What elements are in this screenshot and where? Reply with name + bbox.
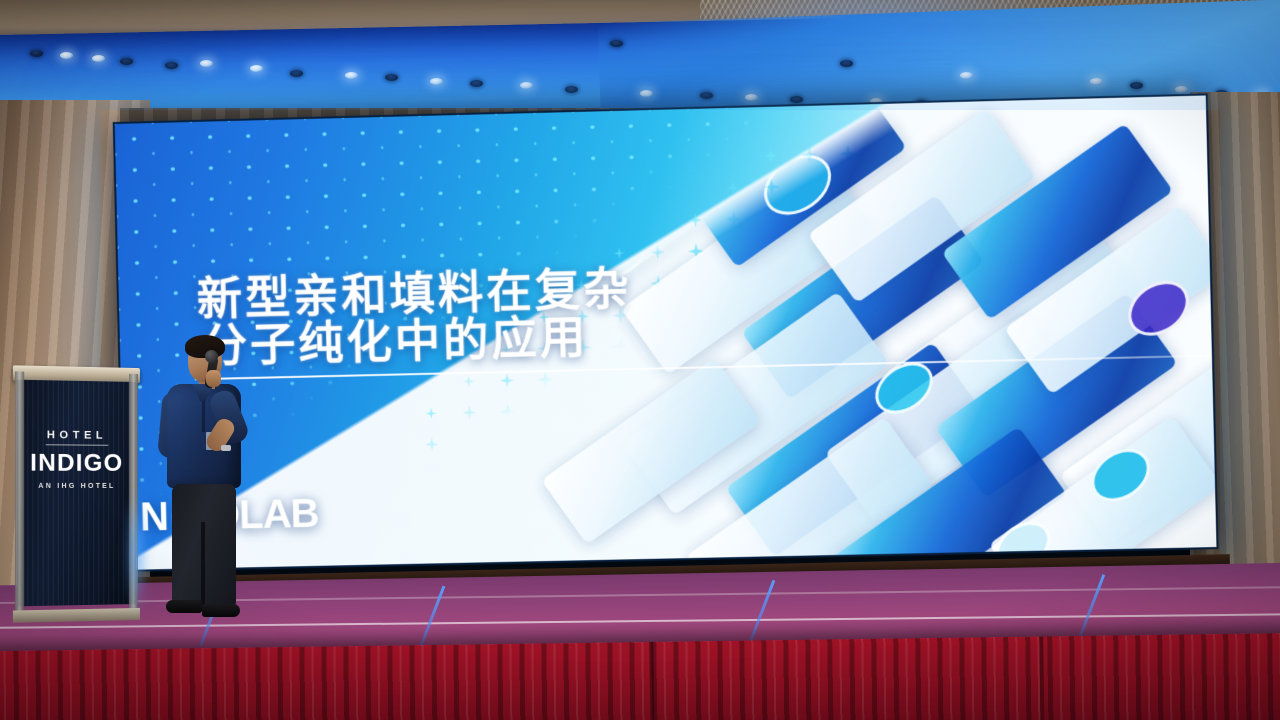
podium-edge-light [126, 488, 146, 618]
downlight-icon [430, 78, 443, 85]
floor-accent-line [1077, 574, 1105, 640]
podium-brand-indigo: INDIGO [17, 449, 136, 478]
podium-brand-rule [46, 444, 109, 446]
downlight-icon [1130, 82, 1143, 89]
presenter-person [150, 332, 258, 620]
microphone-head-icon [205, 350, 218, 363]
downlight-icon [250, 65, 263, 72]
downlight-icon [30, 50, 43, 57]
skirt-seam [1039, 637, 1045, 720]
presenter-hand [206, 370, 221, 387]
downlight-icon [92, 55, 105, 62]
downlight-icon [790, 96, 803, 103]
presenter-shoe-right [202, 604, 240, 617]
downlight-icon [120, 58, 133, 65]
presenter-shoe-left [166, 600, 202, 613]
presenter-leg-gap [201, 522, 205, 606]
podium-brand-hotel: HOTEL [17, 429, 136, 442]
downlight-icon [385, 74, 398, 81]
downlight-icon [60, 52, 73, 59]
led-presentation-screen: 新型亲和填料在复杂 分子纯化中的应用 E 09 N OLAB [113, 93, 1219, 572]
downlight-icon [470, 80, 483, 87]
presenter-wristwatch [221, 445, 231, 451]
downlight-icon [610, 40, 623, 47]
floor-accent-line [747, 580, 775, 646]
podium-brand-tagline: AN IHG HOTEL [17, 483, 136, 490]
conference-photo-scene: 新型亲和填料在复杂 分子纯化中的应用 E 09 N OLAB HOTEL IN [0, 0, 1280, 720]
downlight-icon [745, 94, 758, 101]
downlight-icon [290, 70, 303, 77]
downlight-icon [960, 72, 973, 79]
skirt-seam [649, 642, 655, 720]
downlight-icon [520, 82, 533, 89]
downlight-icon [345, 72, 358, 79]
podium-body: HOTEL INDIGO AN IHG HOTEL [17, 380, 136, 607]
downlight-icon [1090, 78, 1103, 85]
slide-title-line-2: 分子纯化中的应用 [201, 313, 588, 373]
downlight-icon [565, 86, 578, 93]
lectern-podium: HOTEL INDIGO AN IHG HOTEL [17, 365, 136, 618]
downlight-icon [840, 60, 853, 67]
downlight-icon [1175, 86, 1188, 93]
downlight-icon [165, 62, 178, 69]
downlight-icon [200, 60, 213, 67]
downlight-icon [640, 90, 653, 97]
podium-rail-left [15, 371, 24, 612]
podium-brand-plate: HOTEL INDIGO AN IHG HOTEL [17, 429, 136, 490]
downlight-icon [700, 92, 713, 99]
floor-accent-line [417, 586, 445, 652]
